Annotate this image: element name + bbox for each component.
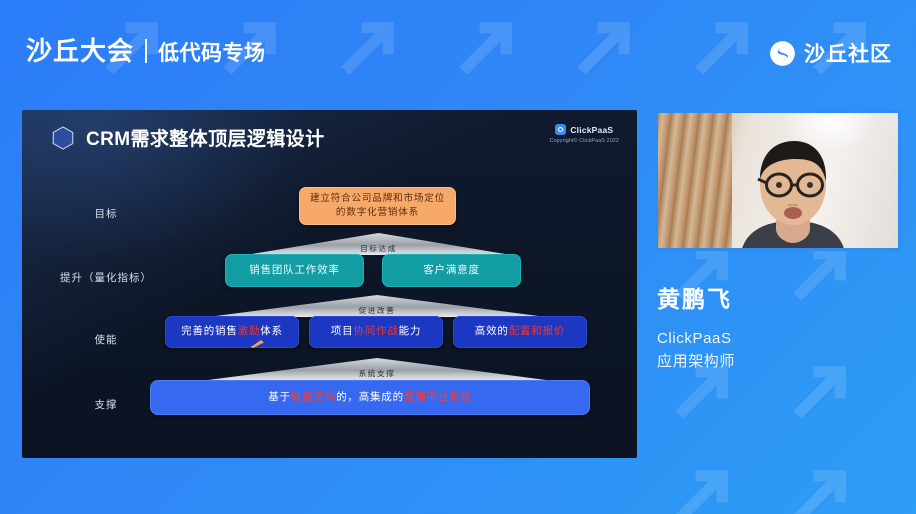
presentation-slide[interactable]: CRM需求整体顶层逻辑设计 ClickPaaS Copyright© Click… bbox=[22, 110, 637, 458]
goal-box-line2: 的数字化营销体系 bbox=[336, 206, 419, 220]
enable-box-text-pre: 完善的销售 bbox=[181, 324, 238, 339]
slide-title: CRM需求整体顶层逻辑设计 bbox=[86, 124, 324, 151]
arrow-watermark-icon bbox=[666, 458, 740, 514]
community-logo: 沙丘社区 bbox=[769, 38, 892, 68]
support-box-marketing-platform[interactable]: 基于敏捷架构的，高集成的营销平台系统 bbox=[150, 380, 590, 415]
speaker-portrait bbox=[718, 129, 868, 251]
enable-box-quoting[interactable]: 高效的配置和报价 bbox=[453, 316, 587, 348]
band-label: 目标达成 bbox=[246, 243, 511, 254]
band-label: 系统支撑 bbox=[208, 368, 546, 379]
slide-title-row: CRM需求整体顶层逻辑设计 bbox=[50, 124, 324, 151]
hexagon-icon bbox=[50, 125, 76, 151]
pencil-underline-icon bbox=[250, 339, 265, 348]
event-subtitle: 低代码专场 bbox=[158, 43, 266, 64]
brand-divider-icon bbox=[145, 39, 147, 63]
enable-box-incentive[interactable]: 完善的销售激励体系 bbox=[165, 316, 299, 348]
support-box-text-mid: 的，高集成的 bbox=[336, 390, 404, 405]
support-box-text-highlight-2: 营销平台系统 bbox=[404, 390, 472, 405]
speaker-name: 黄鹏飞 bbox=[657, 280, 735, 314]
band-label: 促进改善 bbox=[208, 305, 546, 316]
speaker-company: ClickPaaS bbox=[657, 327, 735, 350]
clickpaas-copyright: Copyright© ClickPaaS 2022 bbox=[550, 138, 619, 144]
band-goal-achievement: 目标达成 bbox=[246, 233, 511, 255]
goal-box-line1: 建立符合公司品牌和市场定位 bbox=[310, 192, 445, 206]
band-improvement: 促进改善 bbox=[208, 295, 546, 317]
enable-box-text-post: 能力 bbox=[399, 324, 422, 339]
clickpaas-badge-icon bbox=[555, 124, 566, 135]
event-title: 沙丘大会 bbox=[26, 38, 134, 64]
support-box-text-highlight-1: 敏捷架构 bbox=[291, 390, 336, 405]
metric-box-customer-satisfaction[interactable]: 客户满意度 bbox=[382, 254, 521, 287]
band-system-support: 系统支撑 bbox=[208, 358, 546, 380]
arrow-watermark-icon bbox=[784, 354, 858, 428]
clickpaas-watermark: ClickPaaS Copyright© ClickPaaS 2022 bbox=[550, 124, 619, 144]
enable-box-text-highlight: 配置和报价 bbox=[509, 324, 566, 339]
event-brand: 沙丘大会 低代码专场 bbox=[26, 36, 266, 64]
enable-box-text-highlight: 协同作战 bbox=[353, 324, 398, 339]
arrow-watermark-icon bbox=[784, 458, 858, 514]
row-label-metric: 提升（量化指标） bbox=[60, 270, 152, 285]
speaker-video-thumbnail[interactable] bbox=[655, 110, 901, 251]
enable-box-text-pre: 高效的 bbox=[475, 324, 509, 339]
enable-box-text-pre: 项目 bbox=[331, 324, 354, 339]
row-label-goal: 目标 bbox=[95, 206, 118, 221]
enable-box-text-post: 体系 bbox=[260, 324, 283, 339]
clickpaas-name: ClickPaaS bbox=[570, 125, 613, 135]
row-label-support: 支撑 bbox=[95, 397, 118, 412]
support-box-text-pre: 基于 bbox=[268, 390, 291, 405]
enable-box-collaboration[interactable]: 项目协同作战能力 bbox=[309, 316, 443, 348]
page-header: 沙丘大会 低代码专场 沙丘社区 bbox=[0, 0, 916, 104]
sandhill-s-mark-icon bbox=[769, 40, 796, 67]
speaker-info: 黄鹏飞 ClickPaaS 应用架构师 bbox=[657, 280, 735, 374]
goal-box[interactable]: 建立符合公司品牌和市场定位 的数字化营销体系 bbox=[299, 187, 456, 225]
enable-box-text-highlight: 激励 bbox=[238, 324, 261, 339]
metric-box-sales-efficiency[interactable]: 销售团队工作效率 bbox=[225, 254, 364, 287]
row-label-enable: 使能 bbox=[95, 332, 118, 347]
community-logo-label: 沙丘社区 bbox=[804, 38, 892, 68]
speaker-role: 应用架构师 bbox=[657, 350, 735, 373]
